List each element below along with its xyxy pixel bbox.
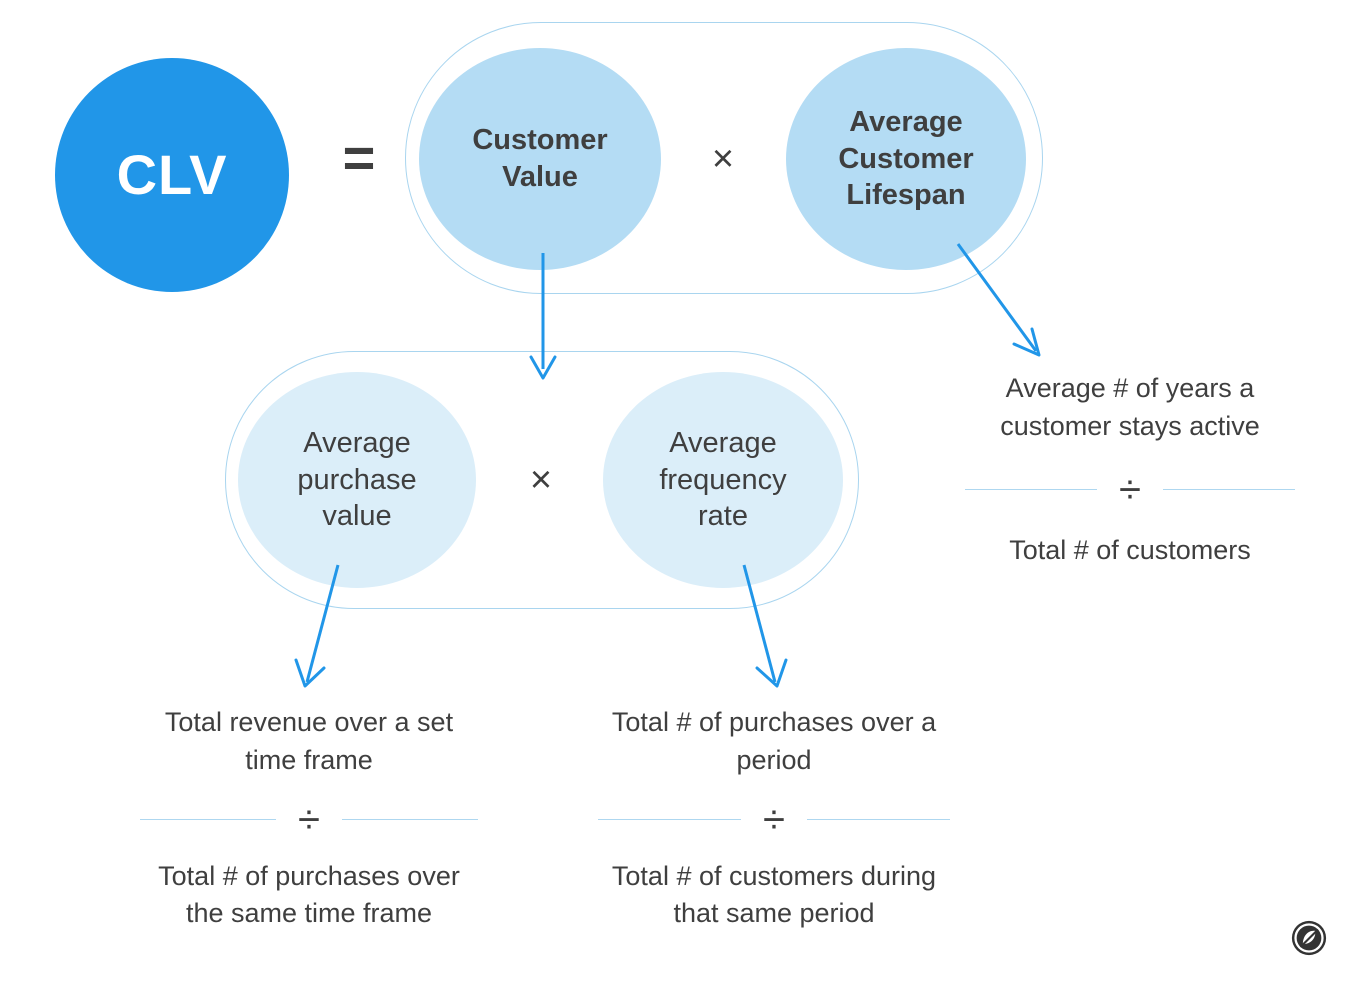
fraction-divider: ÷ (965, 476, 1295, 504)
fraction-denominator: Total # of customers during that same pe… (598, 858, 950, 934)
clv-formula-diagram: CLV = Customer Value × Average Customer … (0, 0, 1352, 985)
term-label-avg-frequency-rate: Average frequency rate (659, 425, 786, 535)
term-circle-customer-value: Customer Value (419, 48, 661, 270)
divider-line-left (598, 819, 741, 821)
clv-label: CLV (117, 147, 228, 203)
brand-logo-icon (1290, 919, 1328, 957)
term-label-avg-customer-lifespan: Average Customer Lifespan (838, 104, 973, 214)
term-label-avg-purchase-value: Average purchase value (297, 425, 416, 535)
equals-sign: = (334, 128, 384, 188)
term-circle-avg-frequency-rate: Average frequency rate (603, 372, 843, 588)
multiplication-sign-level1: × (700, 139, 746, 179)
term-circle-avg-purchase-value: Average purchase value (238, 372, 476, 588)
divide-icon: ÷ (1097, 476, 1163, 504)
divider-line-left (140, 819, 276, 821)
fraction-divider: ÷ (140, 806, 478, 834)
term-label-customer-value: Customer Value (472, 122, 607, 195)
fraction-divider: ÷ (598, 806, 950, 834)
fraction-numerator: Total # of purchases over a period (598, 704, 950, 780)
divide-icon: ÷ (741, 806, 807, 834)
fraction-avg-customer-lifespan: Average # of years a customer stays acti… (965, 370, 1295, 569)
divider-line-right (807, 819, 950, 821)
fraction-avg-purchase-value: Total revenue over a set time frame ÷ To… (140, 704, 478, 933)
divider-line-right (342, 819, 478, 821)
fraction-denominator: Total # of customers (965, 532, 1295, 570)
fraction-avg-frequency-rate: Total # of purchases over a period ÷ Tot… (598, 704, 950, 933)
divider-line-left (965, 489, 1097, 491)
term-circle-avg-customer-lifespan: Average Customer Lifespan (786, 48, 1026, 270)
divide-icon: ÷ (276, 806, 342, 834)
fraction-numerator: Total revenue over a set time frame (140, 704, 478, 780)
fraction-numerator: Average # of years a customer stays acti… (965, 370, 1295, 446)
fraction-denominator: Total # of purchases over the same time … (140, 858, 478, 934)
divider-line-right (1163, 489, 1295, 491)
multiplication-sign-level2: × (518, 460, 564, 500)
clv-circle: CLV (55, 58, 289, 292)
